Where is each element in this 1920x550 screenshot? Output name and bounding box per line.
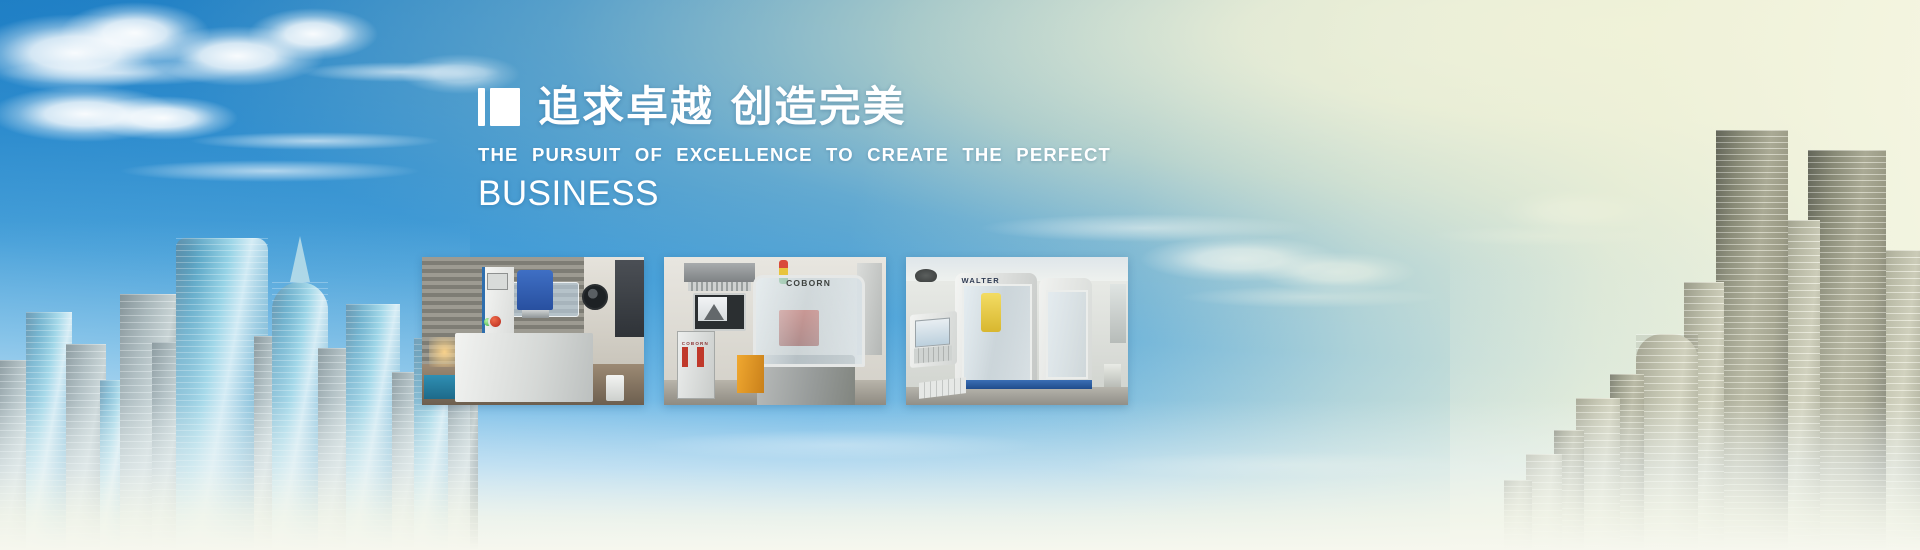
logo-bar-shape <box>478 88 485 126</box>
headline-block: 追求卓越 创造完美 THE PURSUIT OF EXCELLENCE TO C… <box>478 86 1118 213</box>
logo-square-shape <box>490 88 520 126</box>
business-word: BUSINESS <box>478 176 1118 213</box>
coborn-brand-label: COBORN <box>786 278 831 288</box>
walter-brand-label: WALTER <box>962 276 1000 285</box>
photo-coborn-machine[interactable]: COBORN COBORN <box>664 257 886 405</box>
page-title: 追求卓越 创造完美 <box>538 86 907 128</box>
logo-mark-icon <box>478 88 520 126</box>
photo-strip: COBORN COBORN <box>422 257 1128 405</box>
photo-3-scene <box>906 257 1128 405</box>
photo-surface-grinder[interactable] <box>422 257 644 405</box>
photo-1-scene <box>422 257 644 405</box>
photo-walter-machine[interactable]: WALTER <box>906 257 1128 405</box>
coborn-cabinet-label: COBORN <box>682 341 709 346</box>
photo-2-scene: COBORN <box>664 257 886 405</box>
subtitle-english: THE PURSUIT OF EXCELLENCE TO CREATE THE … <box>478 144 1118 166</box>
hero-banner: 追求卓越 创造完美 THE PURSUIT OF EXCELLENCE TO C… <box>0 0 1920 550</box>
ground-fade <box>0 400 1920 550</box>
headline-row: 追求卓越 创造完美 <box>478 86 1118 128</box>
